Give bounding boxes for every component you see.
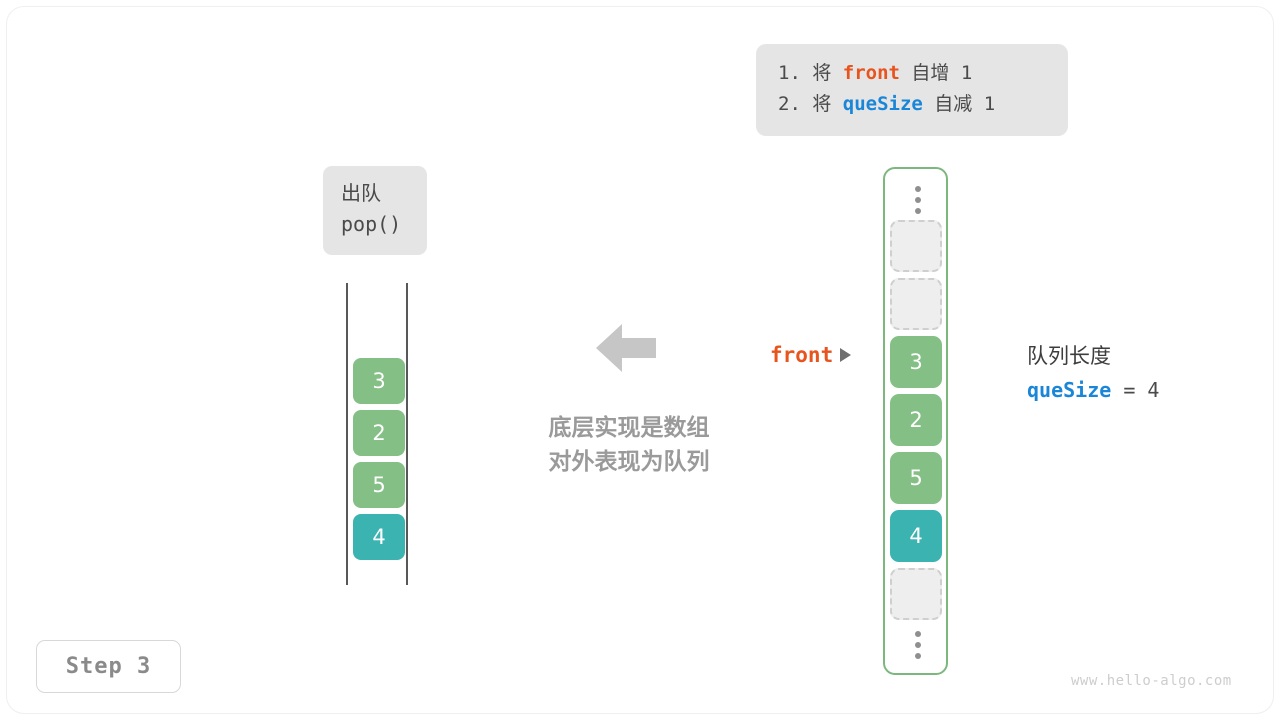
instruction-line-1: 1. 将 front 自增 1 [778, 58, 1046, 89]
watermark: www.hello-algo.com [1071, 673, 1232, 689]
instruction-2-prefix: 2. 将 [778, 93, 843, 115]
diagram-caption: 底层实现是数组 对外表现为队列 [529, 410, 729, 478]
array-ellipsis-top-icon [885, 186, 950, 214]
step-badge-label: Step 3 [66, 654, 151, 679]
array-cell-list: 3254 [890, 220, 942, 626]
instruction-callout: 1. 将 front 自增 1 2. 将 queSize 自减 1 [756, 44, 1068, 136]
array-cell: 5 [890, 452, 942, 504]
queue-cell: 2 [353, 410, 405, 456]
array-cell: 3 [890, 336, 942, 388]
queue-cell: 3 [353, 358, 405, 404]
queue-size-label: 队列长度 [1027, 341, 1159, 373]
queue-view: 3254 [340, 283, 414, 585]
step-badge: Step 3 [36, 640, 181, 693]
flow-arrow-left-icon [596, 322, 656, 374]
operation-label-box: 出队 pop() [323, 166, 427, 255]
array-cell-empty [890, 568, 942, 620]
instruction-line-2: 2. 将 queSize 自减 1 [778, 89, 1046, 120]
queue-cell-list: 3254 [353, 358, 405, 566]
instruction-2-keyword: queSize [843, 93, 923, 115]
instruction-2-suffix: 自减 1 [923, 93, 995, 115]
array-cell: 2 [890, 394, 942, 446]
front-pointer-label: front [770, 343, 833, 367]
front-pointer: front [770, 343, 851, 367]
operation-method: pop() [341, 209, 427, 240]
queue-rail-left [346, 283, 348, 585]
queue-size-expression: queSize = 4 [1027, 373, 1159, 407]
array-cell-empty [890, 220, 942, 272]
queue-size-value: 4 [1147, 378, 1159, 402]
array-cell-empty [890, 278, 942, 330]
caption-line-1: 底层实现是数组 [529, 410, 729, 444]
instruction-1-prefix: 1. 将 [778, 62, 843, 84]
queue-size-annotation: 队列长度 queSize = 4 [1027, 341, 1159, 407]
queue-size-variable: queSize [1027, 378, 1111, 402]
array-ellipsis-bottom-icon [885, 631, 950, 659]
queue-size-equals: = [1111, 378, 1147, 402]
operation-title: 出队 [341, 179, 427, 209]
array-view: 3254 [883, 167, 948, 675]
diagram-canvas: 1. 将 front 自增 1 2. 将 queSize 自减 1 出队 pop… [0, 0, 1280, 720]
caption-line-2: 对外表现为队列 [529, 444, 729, 478]
queue-cell: 5 [353, 462, 405, 508]
queue-rail-right [406, 283, 408, 585]
queue-cell: 4 [353, 514, 405, 560]
front-pointer-arrow-icon [840, 348, 851, 362]
instruction-1-suffix: 自增 1 [900, 62, 972, 84]
instruction-1-keyword: front [843, 62, 900, 84]
array-cell: 4 [890, 510, 942, 562]
